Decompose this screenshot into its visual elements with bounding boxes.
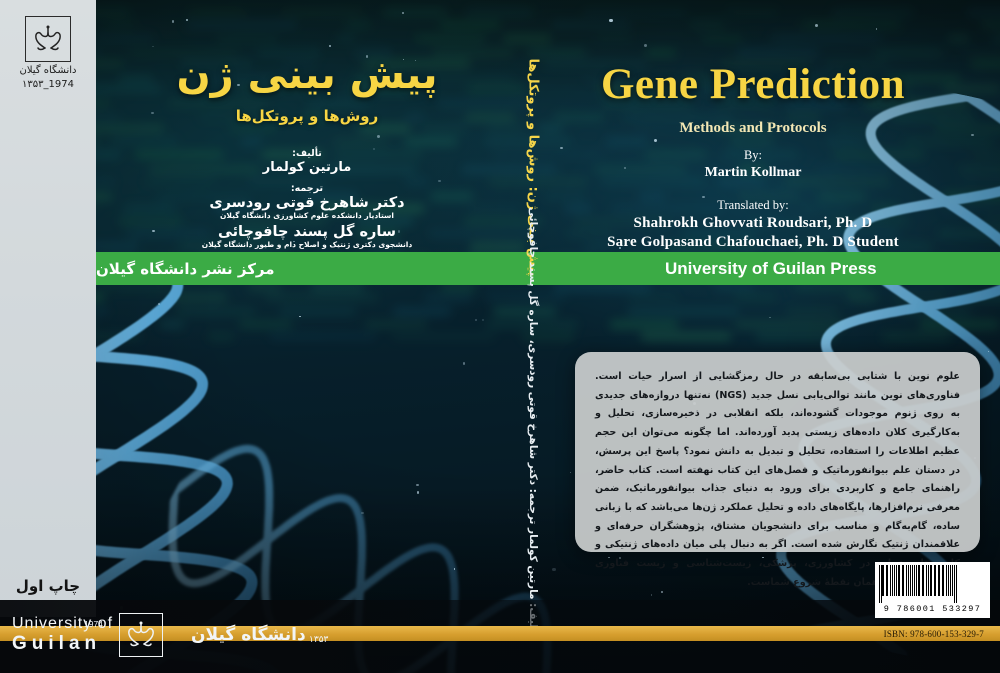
persian-translator-block: ترجمه: دکتر شاهرخ قوتی رودسری استادیار د… [136, 183, 478, 249]
persian-subtitle: روش‌ها و پروتکل‌ها [136, 107, 478, 125]
english-translator1: Shahrokh Ghovvati Roudsari, Ph. D [566, 215, 940, 232]
front-cover-persian: پیش بینی ژن روش‌ها و پروتکل‌ها تألیف: ما… [96, 0, 500, 252]
publisher-name-english: University of Guilan Press [566, 252, 1000, 285]
flap-university-name-fa: دانشگاه گیلان [19, 65, 76, 78]
publisher-name-persian: مرکز نشر دانشگاه گیلان [96, 252, 500, 285]
persian-author-name: مارتین کولمار [136, 160, 478, 175]
flap-university-logo: دانشگاه گیلان ۱۳۵۳_1974 [0, 16, 96, 90]
back-cover-blurb-box: علوم نوین با شتابی بی‌سابقه در حال رمزگش… [575, 352, 980, 552]
publisher-band-english: University of Guilan Press [566, 252, 1000, 285]
english-author-name: Martin Kollmar [566, 165, 940, 181]
persian-translator2-name: ساره گل پسند چافوچائی [136, 224, 478, 240]
persian-translator2-affiliation: دانشجوی دکتری ژنتیک و اصلاح دام و طیور د… [136, 240, 478, 249]
english-panel: Gene Prediction Methods and Protocols By… [566, 0, 1000, 252]
persian-translator1-name: دکتر شاهرخ قوتی رودسری [136, 195, 478, 211]
persian-translator1-affiliation: استادیار دانشکده علوم کشاورزی دانشگاه گی… [136, 211, 478, 220]
persian-title: پیش بینی ژن [136, 52, 478, 98]
guilan-emblem-icon-bottom [119, 613, 163, 657]
persian-author-label: تألیف: [136, 148, 478, 159]
ug-name-en-line2: Guilan [12, 633, 113, 654]
isbn-label: ISBN: 978-600-153-329-7 [760, 626, 1000, 641]
barcode-digits: 9 786001 533297 [879, 604, 986, 614]
persian-translator-label: ترجمه: [136, 183, 478, 194]
spine-authors: تألیف: مارتین کولمار ترجمه: دکتر شاهرخ ق… [527, 306, 539, 636]
ug-founding-year-fa: ۱۳۵۳ [309, 635, 328, 645]
english-subtitle: Methods and Protocols [566, 120, 940, 137]
english-by-label: By: [566, 148, 940, 163]
edition-label: چاپ اول [0, 577, 96, 595]
guilan-emblem-icon [25, 16, 71, 62]
university-of-guilan-logo: 1974 University of Guilan ۱۳۵۳ دانشگاه گ [12, 605, 312, 665]
english-translated-label: Translated by: [566, 198, 940, 213]
ug-founding-year-en: 1974 [84, 619, 103, 629]
cover-flap: دانشگاه گیلان ۱۳۵۳_1974 چاپ اول [0, 0, 96, 617]
english-title: Gene Prediction [566, 60, 940, 109]
book-cover: دانشگاه گیلان ۱۳۵۳_1974 چاپ اول پیش بینی… [0, 0, 1000, 673]
back-cover-blurb-text: علوم نوین با شتابی بی‌سابقه در حال رمزگش… [575, 352, 980, 592]
publisher-band-persian: مرکز نشر دانشگاه گیلان [96, 252, 500, 285]
flap-university-years: ۱۳۵۳_1974 [22, 79, 74, 90]
ug-name-fa: دانشگاه گیلان [191, 625, 306, 645]
persian-author-block: تألیف: مارتین کولمار [136, 148, 478, 175]
barcode-bars [879, 565, 986, 603]
english-translator-block: Translated by: Shahrokh Ghovvati Roudsar… [566, 198, 940, 251]
book-spine: پیش بینی ژن: روش‌ها و پروتکل‌ها تألیف: م… [500, 0, 566, 673]
english-translator2: Sare Golpasand Chafouchaei, Ph. D Studen… [566, 234, 940, 251]
barcode: 9 786001 533297 [875, 562, 990, 618]
english-author-block: By: Martin Kollmar [566, 148, 940, 181]
